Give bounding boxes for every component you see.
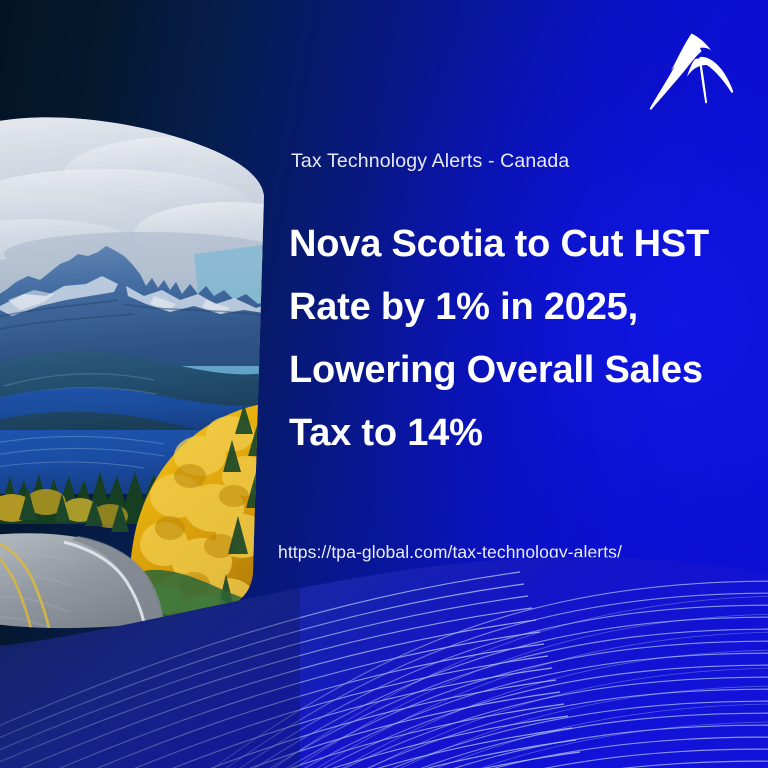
tpa-swoosh-a-logo-icon: [645, 30, 737, 112]
source-url-link[interactable]: https://tpa-global.com/tax-technology-al…: [278, 542, 622, 563]
eyebrow-label: Tax Technology Alerts - Canada: [291, 150, 569, 173]
photo-artwork: [0, 104, 270, 634]
social-card: Tax Technology Alerts - Canada Nova Scot…: [0, 0, 768, 768]
mountain-road-autumn-photo: [0, 104, 270, 634]
page-title: Nova Scotia to Cut HST Rate by 1% in 202…: [289, 213, 719, 465]
